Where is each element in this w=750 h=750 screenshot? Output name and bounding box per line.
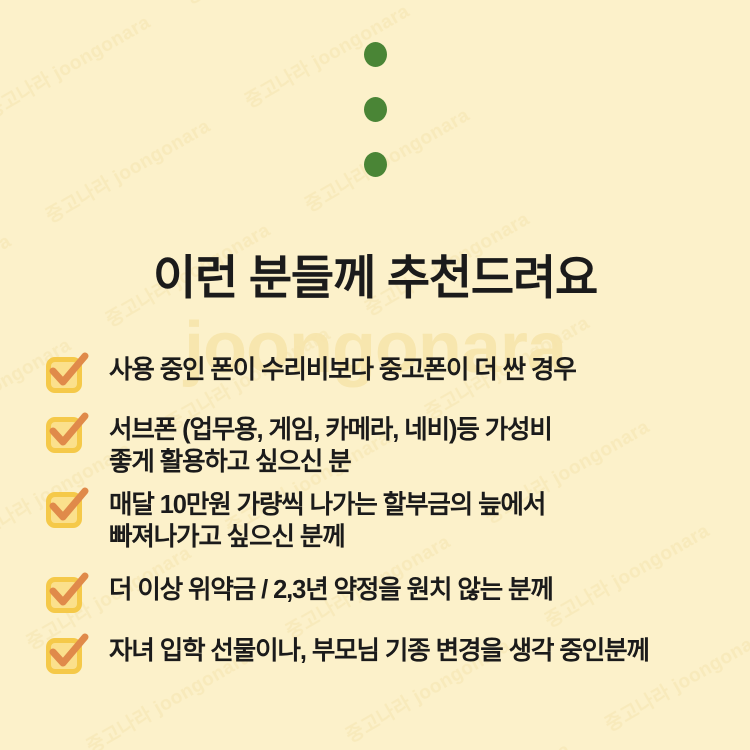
watermark-tile-text: 중고나라 joongonara [141,724,400,750]
checklist-item-label: 자녀 입학 선물이나, 부모님 기종 변경을 생각 중인분께 [109,633,734,668]
checkbox-checked-icon [44,635,86,677]
check-mark-icon [44,350,90,396]
decorative-dot [364,152,387,177]
benefits-checklist: 사용 중인 폰이 수리비보다 중고폰이 더 싼 경우서브폰 (업무용, 게임, … [44,352,734,687]
checklist-item-label: 서브폰 (업무용, 게임, 카메라, 네비)등 가성비 좋게 활용하고 싶으신 … [109,412,734,478]
checklist-item: 매달 10만원 가량씩 나가는 할부금의 늪에서 빠져나가고 싶으신 분께 [44,487,734,553]
checklist-item-label: 더 이상 위약금 / 2,3년 약정을 원치 않는 분께 [109,572,734,607]
checkbox-checked-icon [44,414,86,456]
watermark-tile-text: 중고나라 joongonara [659,702,750,750]
checklist-item-label: 매달 10만원 가량씩 나가는 할부금의 늪에서 빠져나가고 싶으신 분께 [109,487,734,553]
check-mark-icon [44,485,90,531]
decorative-dot [364,42,387,67]
promo-poster: 중고나라 joongonara중고나라 joongonara중고나라 joong… [0,0,750,750]
checklist-item: 더 이상 위약금 / 2,3년 약정을 원치 않는 분께 [44,572,734,616]
check-mark-icon [44,410,90,456]
checkbox-checked-icon [44,354,86,396]
checklist-item: 사용 중인 폰이 수리비보다 중고폰이 더 싼 경우 [44,352,734,396]
check-mark-icon [44,570,90,616]
watermark-tile-text: 중고나라 joongonara [400,713,659,750]
checkbox-checked-icon [44,574,86,616]
check-mark-icon [44,631,90,677]
checklist-item-label: 사용 중인 폰이 수리비보다 중고폰이 더 싼 경우 [109,352,734,387]
decorative-dots [0,42,750,177]
checklist-item: 서브폰 (업무용, 게임, 카메라, 네비)등 가성비 좋게 활용하고 싶으신 … [44,412,734,478]
checklist-item: 자녀 입학 선물이나, 부모님 기종 변경을 생각 중인분께 [44,633,734,677]
decorative-dot [364,97,387,122]
checkbox-checked-icon [44,489,86,531]
page-title: 이런 분들께 추천드려요 [0,252,750,304]
